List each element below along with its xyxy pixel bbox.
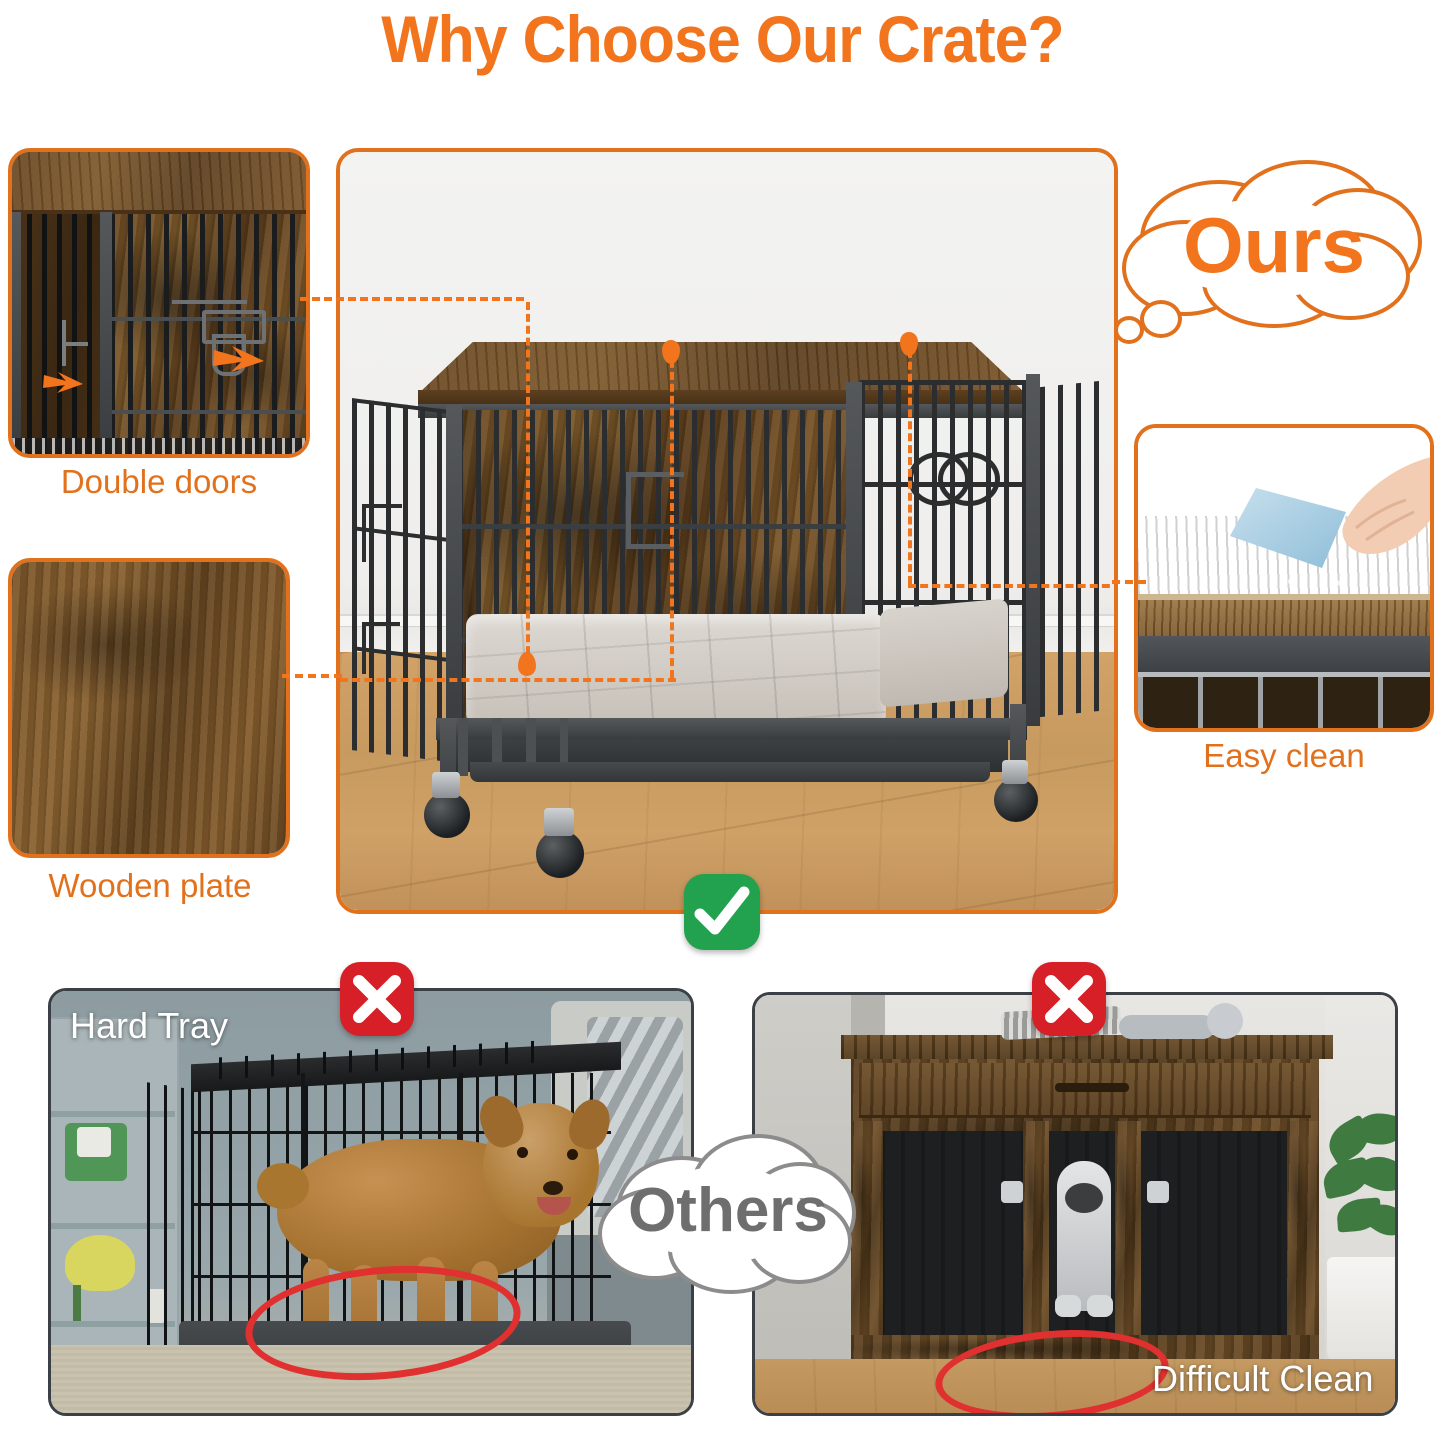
connector-double-doors-outer	[300, 297, 524, 301]
others-bubble-label: Others	[598, 1180, 858, 1242]
crate-cushion-right	[880, 598, 1008, 707]
check-icon	[684, 874, 760, 950]
bubble-dot	[1114, 316, 1144, 344]
arrow-pointer-icon	[212, 344, 266, 374]
caster-wheel	[994, 778, 1038, 822]
overlay-label-hard-tray: Hard Tray	[70, 1005, 228, 1047]
cabinet-latch-icon	[1147, 1181, 1169, 1203]
page-title: Why Choose Our Crate?	[58, 2, 1387, 76]
cabinet-latch-icon	[1001, 1181, 1023, 1203]
ours-bubble-label: Ours	[1118, 206, 1430, 284]
connector-line-wooden-plate-h	[340, 678, 676, 682]
bubble-dot	[1140, 300, 1182, 338]
infographic-root: Why Choose Our Crate?	[0, 0, 1445, 1436]
overlay-label-difficult-clean: Difficult Clean	[1152, 1358, 1373, 1400]
caption-wooden-plate: Wooden plate	[0, 866, 300, 906]
caster-wheel	[424, 792, 470, 838]
cross-icon	[1032, 962, 1106, 1036]
crate-left-wire-door	[352, 398, 448, 762]
main-product-photo	[340, 152, 1114, 910]
cabinet-wire-window-right	[1137, 1131, 1289, 1343]
others-thought-bubble: Others	[598, 1128, 858, 1304]
cabinet-wire-window-left	[881, 1131, 1029, 1343]
connector-line-easy-clean	[908, 338, 912, 584]
connector-pin-double-doors	[518, 652, 536, 676]
hard-tray-photo	[51, 991, 691, 1413]
arrow-pointer-icon	[42, 370, 84, 394]
connector-line-easy-clean-h	[908, 584, 1118, 588]
connector-easy-clean-outer	[1112, 580, 1146, 584]
feature-panel-double-doors	[8, 148, 310, 458]
ours-thought-bubble: Ours	[1118, 158, 1430, 338]
cross-badge-hard-tray	[340, 962, 414, 1036]
main-product-panel	[336, 148, 1118, 914]
feature-panel-wooden-plate	[8, 558, 290, 858]
caster-wheel	[536, 830, 584, 878]
potted-plant	[1323, 1113, 1398, 1273]
easy-clean-photo	[1138, 428, 1430, 728]
check-badge	[684, 874, 760, 950]
hand-icon	[1296, 454, 1434, 566]
connector-line-double-doors	[526, 302, 530, 666]
cross-badge-difficult-clean	[1032, 962, 1106, 1036]
connector-line-tabletop	[670, 348, 674, 678]
cross-icon	[340, 962, 414, 1036]
caption-easy-clean: Easy clean	[1134, 736, 1434, 776]
feature-panel-easy-clean	[1134, 424, 1434, 732]
wooden-plate-photo	[12, 562, 286, 854]
double-doors-photo	[12, 152, 306, 454]
caption-double-doors: Double doors	[8, 462, 310, 502]
connector-wooden-plate-outer	[282, 674, 342, 678]
plant-pot	[1327, 1257, 1398, 1365]
